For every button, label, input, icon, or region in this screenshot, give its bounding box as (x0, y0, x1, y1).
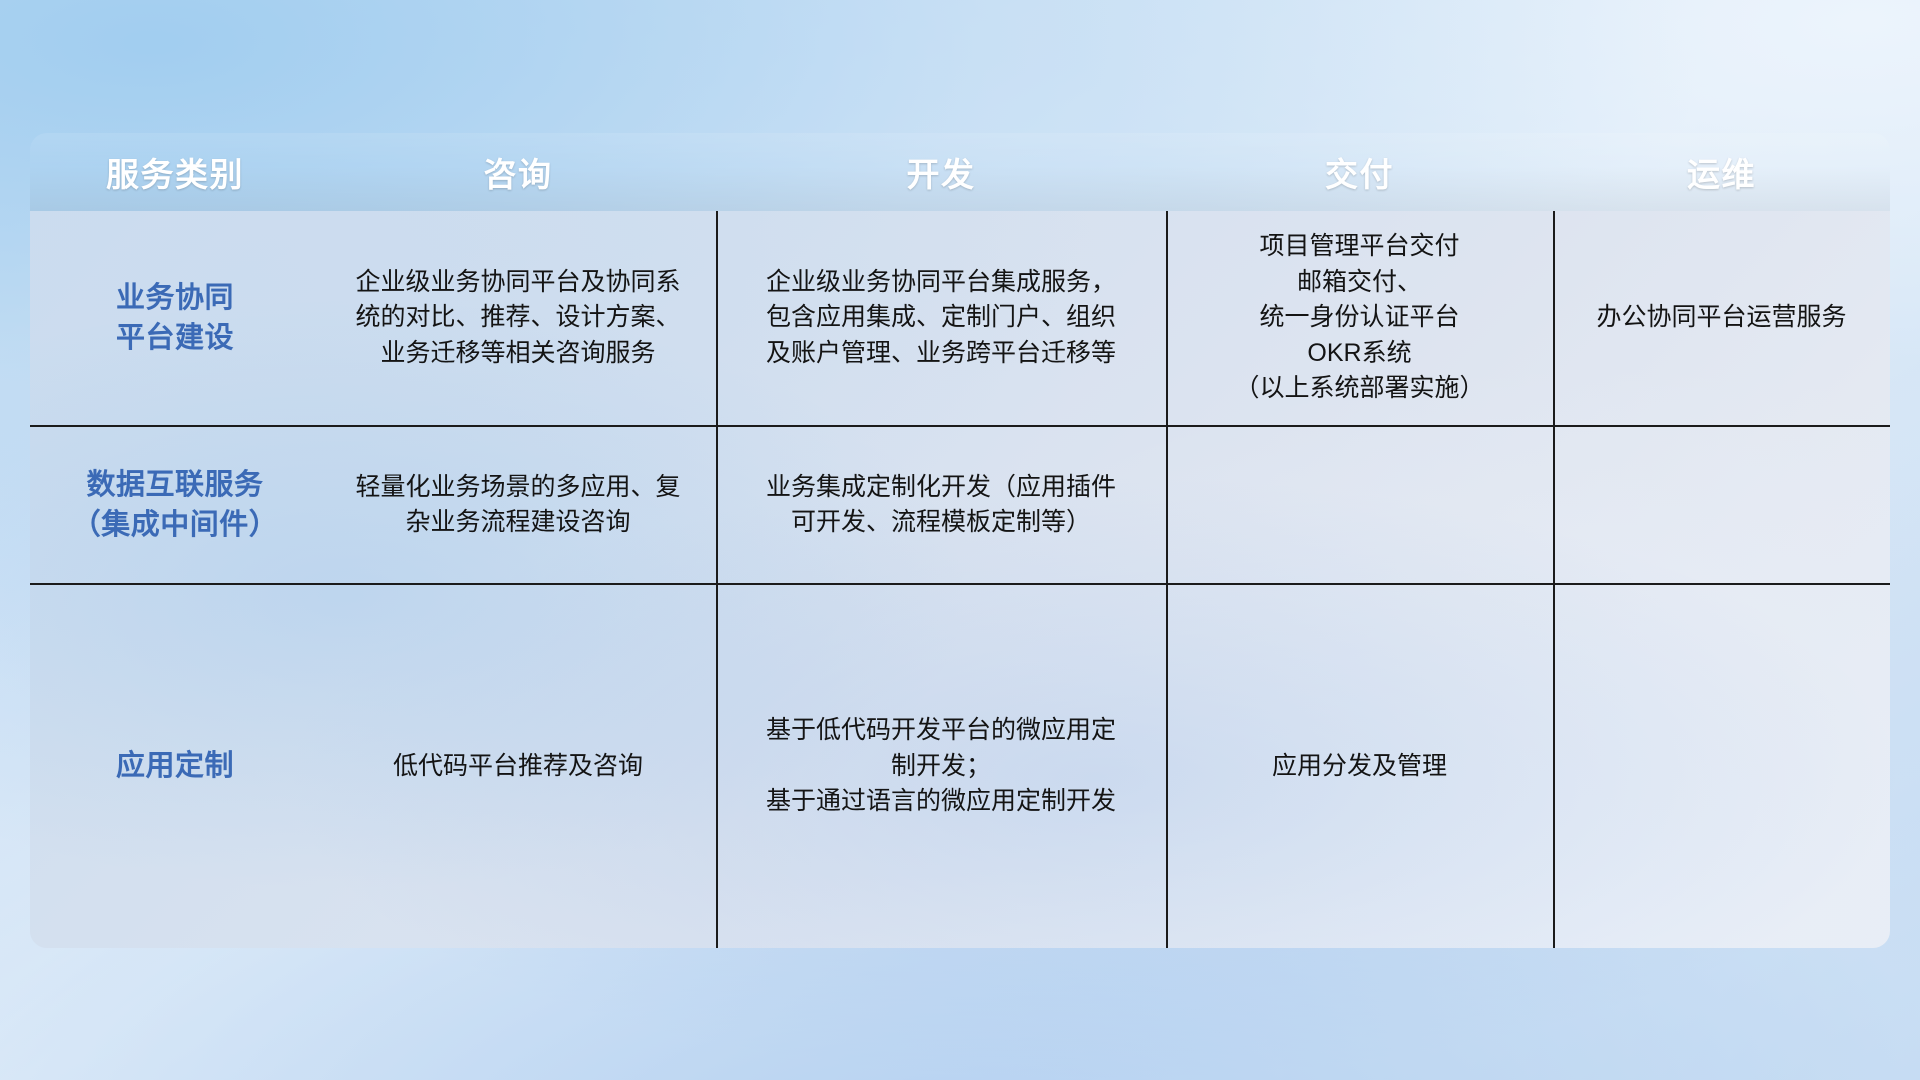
cell-delivery: 应用分发及管理 (1166, 585, 1553, 948)
cell-development: 业务集成定制化开发（应用插件 可开发、流程模板定制等） (716, 427, 1166, 583)
category-label: 应用定制 (116, 746, 234, 786)
column-divider-3 (1553, 211, 1555, 948)
table-row: 业务协同 平台建设 企业级业务协同平台及协同系 统的对比、推荐、设计方案、 业务… (30, 211, 1890, 425)
table-row: 应用定制 低代码平台推荐及咨询 基于低代码开发平台的微应用定 制开发； 基于通过… (30, 585, 1890, 948)
column-header-delivery: 交付 (1166, 148, 1553, 196)
category-label: 业务协同 平台建设 (116, 278, 234, 358)
table-row: 数据互联服务 （集成中间件） 轻量化业务场景的多应用、复 杂业务流程建设咨询 业… (30, 427, 1890, 583)
cell-development: 基于低代码开发平台的微应用定 制开发； 基于通过语言的微应用定制开发 (716, 585, 1166, 948)
cell-category: 应用定制 (30, 585, 320, 948)
cell-consulting: 低代码平台推荐及咨询 (320, 585, 716, 948)
table-header-row: 服务类别 咨询 开发 交付 运维 (30, 133, 1890, 211)
cell-delivery (1166, 427, 1553, 583)
cell-category: 数据互联服务 （集成中间件） (30, 427, 320, 583)
cell-development: 企业级业务协同平台集成服务， 包含应用集成、定制门户、组织 及账户管理、业务跨平… (716, 211, 1166, 425)
column-divider-2 (1166, 211, 1168, 948)
cell-delivery: 项目管理平台交付 邮箱交付、 统一身份认证平台 OKR系统 （以上系统部署实施） (1166, 211, 1553, 425)
service-matrix-table: 服务类别 咨询 开发 交付 运维 业务协同 平台建设 企业级业务协同平台及协同系… (30, 133, 1890, 948)
column-header-development: 开发 (716, 148, 1166, 196)
table-body: 业务协同 平台建设 企业级业务协同平台及协同系 统的对比、推荐、设计方案、 业务… (30, 211, 1890, 948)
cell-consulting: 轻量化业务场景的多应用、复 杂业务流程建设咨询 (320, 427, 716, 583)
cell-operations (1553, 585, 1890, 948)
column-header-operations: 运维 (1553, 148, 1890, 196)
column-header-category: 服务类别 (30, 148, 320, 196)
slide-canvas: 服务类别 咨询 开发 交付 运维 业务协同 平台建设 企业级业务协同平台及协同系… (0, 0, 1920, 1080)
row-divider-2 (30, 583, 1890, 585)
category-label: 数据互联服务 （集成中间件） (72, 465, 279, 545)
cell-operations: 办公协同平台运营服务 (1553, 211, 1890, 425)
cell-consulting: 企业级业务协同平台及协同系 统的对比、推荐、设计方案、 业务迁移等相关咨询服务 (320, 211, 716, 425)
cell-category: 业务协同 平台建设 (30, 211, 320, 425)
column-divider-1 (716, 211, 718, 948)
cell-operations (1553, 427, 1890, 583)
row-divider-1 (30, 425, 1890, 427)
column-header-consulting: 咨询 (320, 148, 716, 196)
